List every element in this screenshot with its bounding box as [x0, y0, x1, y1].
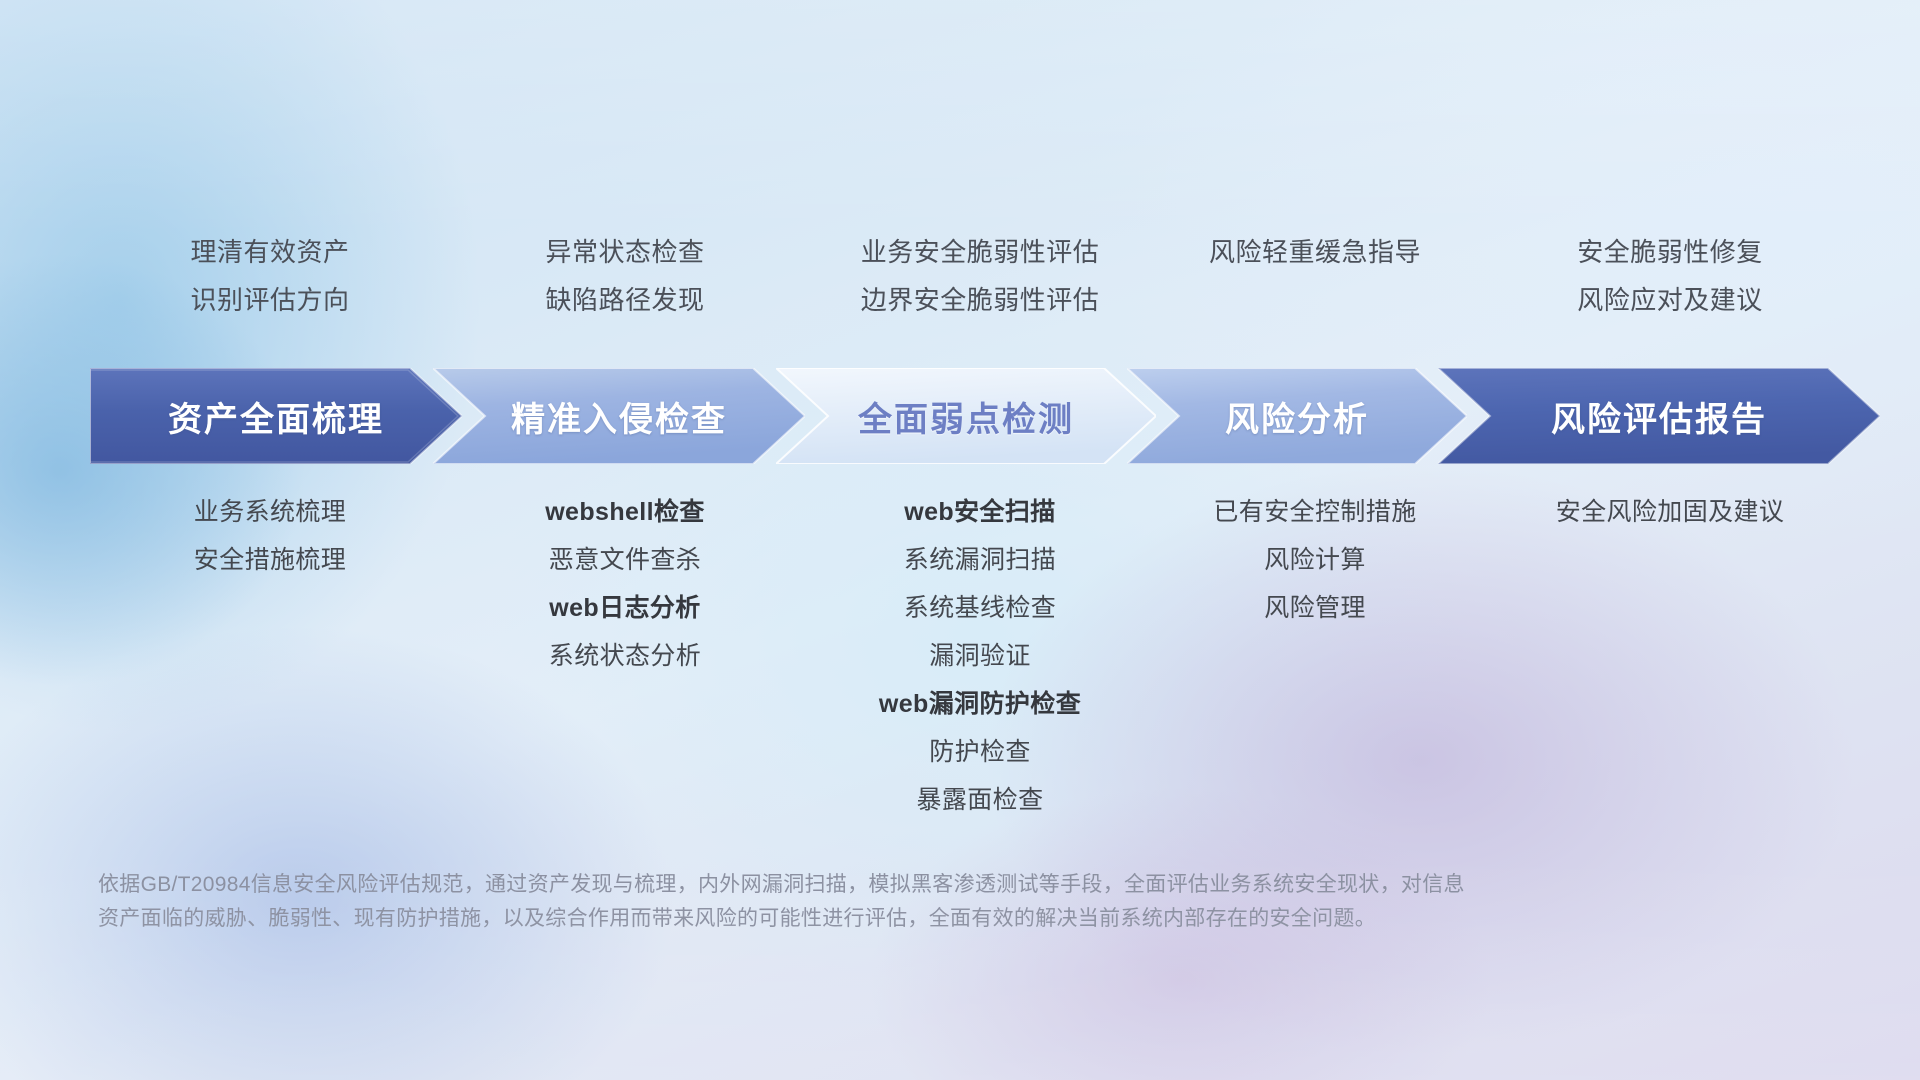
footer-line-1: 依据GB/T20984信息安全风险评估规范，通过资产发现与梳理，内外网漏洞扫描，…: [98, 868, 1618, 902]
top-label: 业务安全脆弱性评估: [800, 228, 1160, 276]
chevron-label: 风险分析: [1225, 392, 1369, 441]
stage-2-top-labels: 异常状态检查 缺陷路径发现: [450, 228, 800, 324]
stage-4-top-labels: 风险轻重缓急指导: [1160, 228, 1470, 276]
bottom-label: webshell检查: [450, 488, 800, 536]
footer-description: 依据GB/T20984信息安全风险评估规范，通过资产发现与梳理，内外网漏洞扫描，…: [98, 868, 1618, 936]
bottom-label: 风险计算: [1160, 536, 1470, 584]
stage-2-bottom-labels: webshell检查 恶意文件查杀 web日志分析 系统状态分析: [450, 488, 800, 680]
bottom-label: 暴露面检查: [800, 776, 1160, 824]
stage-4-bottom-labels: 已有安全控制措施 风险计算 风险管理: [1160, 488, 1470, 632]
top-label: 边界安全脆弱性评估: [800, 276, 1160, 324]
slide-content: 理清有效资产 识别评估方向 业务系统梳理 安全措施梳理 异常状态检查 缺陷路径发…: [0, 0, 1920, 1080]
bottom-label: 风险管理: [1160, 584, 1470, 632]
top-label: 风险应对及建议: [1470, 276, 1870, 324]
process-chevron-band: 资产全面梳理 精准入侵检查: [90, 368, 1880, 464]
stage-1-bottom-labels: 业务系统梳理 安全措施梳理: [90, 488, 450, 584]
stage-1-top-labels: 理清有效资产 识别评估方向: [90, 228, 450, 324]
bottom-label: web漏洞防护检查: [800, 680, 1160, 728]
bottom-label: 防护检查: [800, 728, 1160, 776]
chevron-stage-1[interactable]: 资产全面梳理: [90, 368, 462, 464]
chevron-stage-5[interactable]: 风险评估报告: [1438, 368, 1880, 464]
bottom-label: 恶意文件查杀: [450, 536, 800, 584]
bottom-label: 安全措施梳理: [90, 536, 450, 584]
bottom-label: 漏洞验证: [800, 632, 1160, 680]
chevron-label: 风险评估报告: [1551, 392, 1767, 441]
bottom-label: 系统基线检查: [800, 584, 1160, 632]
top-label: 安全脆弱性修复: [1470, 228, 1870, 276]
chevron-stage-4[interactable]: 风险分析: [1127, 368, 1467, 464]
chevron-label: 资产全面梳理: [168, 392, 384, 441]
bottom-label: 系统漏洞扫描: [800, 536, 1160, 584]
top-label: 风险轻重缓急指导: [1160, 228, 1470, 276]
top-label: 缺陷路径发现: [450, 276, 800, 324]
footer-line-2: 资产面临的威胁、脆弱性、现有防护措施，以及综合作用而带来风险的可能性进行评估，全…: [98, 902, 1618, 936]
bottom-label: 已有安全控制措施: [1160, 488, 1470, 536]
bottom-label: web安全扫描: [800, 488, 1160, 536]
top-label: 理清有效资产: [90, 228, 450, 276]
top-label: 识别评估方向: [90, 276, 450, 324]
stage-5-bottom-labels: 安全风险加固及建议: [1470, 488, 1870, 536]
stage-3-top-labels: 业务安全脆弱性评估 边界安全脆弱性评估: [800, 228, 1160, 324]
bottom-label: 系统状态分析: [450, 632, 800, 680]
bottom-label: 业务系统梳理: [90, 488, 450, 536]
stage-3-bottom-labels: web安全扫描 系统漏洞扫描 系统基线检查 漏洞验证 web漏洞防护检查 防护检…: [800, 488, 1160, 824]
bottom-label: 安全风险加固及建议: [1470, 488, 1870, 536]
stage-5-top-labels: 安全脆弱性修复 风险应对及建议: [1470, 228, 1870, 324]
chevron-stage-3[interactable]: 全面弱点检测: [776, 368, 1156, 464]
chevron-label: 精准入侵检查: [511, 392, 727, 441]
bottom-label: web日志分析: [450, 584, 800, 632]
chevron-label: 全面弱点检测: [858, 392, 1074, 441]
chevron-stage-2[interactable]: 精准入侵检查: [433, 368, 805, 464]
slide-canvas: 理清有效资产 识别评估方向 业务系统梳理 安全措施梳理 异常状态检查 缺陷路径发…: [0, 0, 1920, 1080]
top-label: 异常状态检查: [450, 228, 800, 276]
